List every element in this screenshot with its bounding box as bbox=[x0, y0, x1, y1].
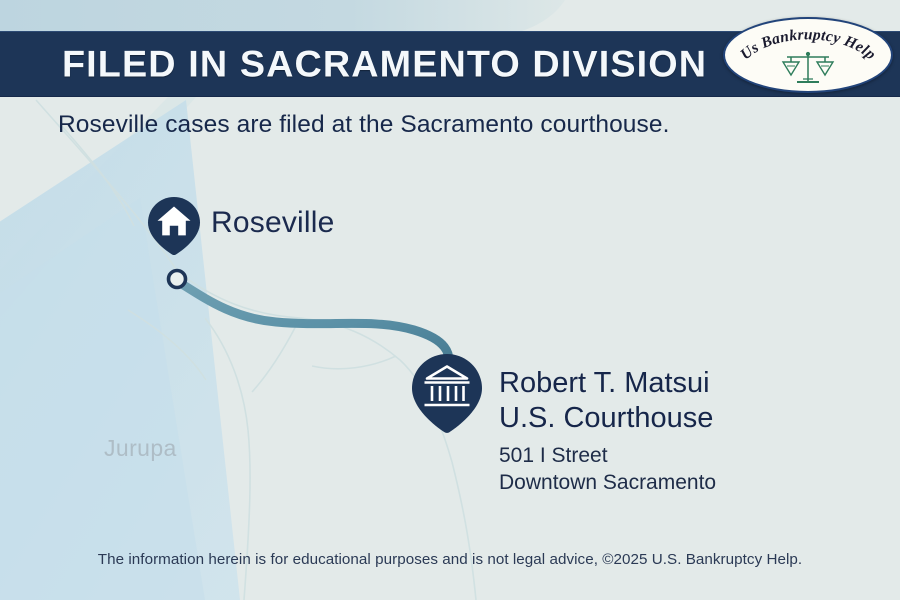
map-marker-roseville[interactable] bbox=[146, 196, 202, 256]
map-pin-shape bbox=[409, 353, 485, 435]
map-marker-courthouse[interactable] bbox=[409, 353, 485, 435]
infographic-root: FILED IN SACRAMENTO DIVISION Us Bankrupt… bbox=[0, 0, 900, 600]
courthouse-address-line1: 501 I Street bbox=[499, 442, 716, 469]
courthouse-name-line1: Robert T. Matsui bbox=[499, 366, 716, 401]
page-title: FILED IN SACRAMENTO DIVISION bbox=[62, 46, 707, 83]
courthouse-address-line2: Downtown Sacramento bbox=[499, 469, 716, 496]
scales-of-justice-icon bbox=[783, 52, 833, 82]
map-top-strip bbox=[0, 0, 565, 33]
courthouse-name-line2: U.S. Courthouse bbox=[499, 401, 716, 436]
subtitle-text: Roseville cases are filed at the Sacrame… bbox=[58, 111, 670, 139]
map-pin-shape bbox=[146, 196, 202, 256]
map-area-label-jurupa: Jurupa bbox=[104, 435, 177, 462]
brand-logo-graphic: Us Bankruptcy Help bbox=[725, 19, 891, 91]
courthouse-info-block: Robert T. Matsui U.S. Courthouse 501 I S… bbox=[499, 366, 716, 497]
route-origin-dot bbox=[169, 271, 186, 288]
footer-disclaimer: The information herein is for educationa… bbox=[0, 551, 900, 568]
map-marker-label-roseville: Roseville bbox=[211, 206, 335, 240]
brand-logo-badge[interactable]: Us Bankruptcy Help bbox=[723, 17, 893, 93]
